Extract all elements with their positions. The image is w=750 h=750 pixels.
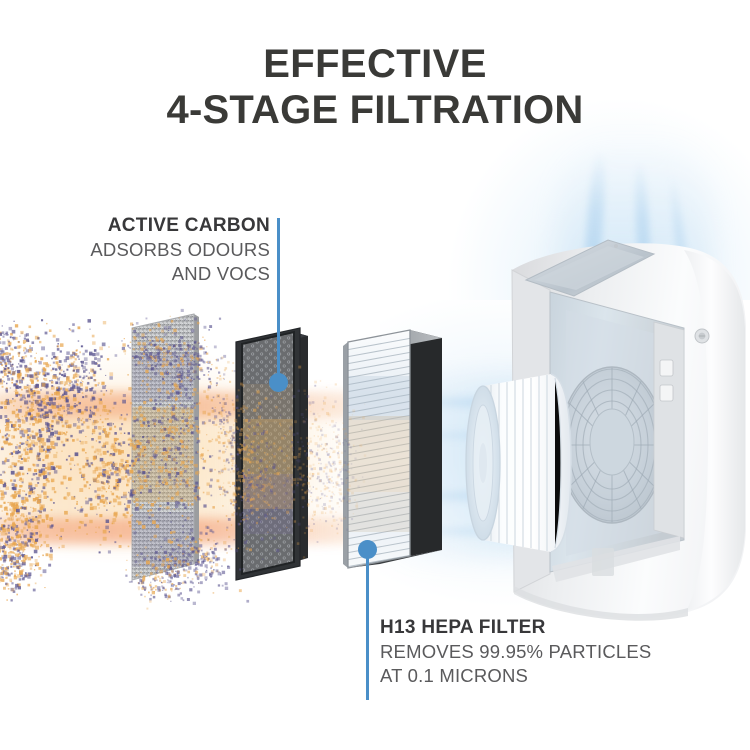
pointer-dot-active-carbon (269, 373, 288, 392)
turbine-fan (455, 368, 585, 558)
headline-line-2: 4-STAGE FILTRATION (0, 88, 750, 134)
active-carbon-filter (228, 324, 318, 592)
pointer-dot-h13-hepa (358, 540, 377, 559)
callout-active-carbon-title: ACTIVE CARBON (40, 214, 270, 238)
callout-h13-hepa-title: H13 HEPA FILTER (380, 616, 710, 640)
h13-hepa-filter (336, 316, 454, 586)
callout-active-carbon: ACTIVE CARBON ADSORBS ODOURS AND VOCS (40, 214, 270, 286)
callout-h13-hepa: H13 HEPA FILTER REMOVES 99.95% PARTICLES… (380, 616, 710, 688)
callout-h13-hepa-line-1: REMOVES 99.95% PARTICLES (380, 640, 710, 664)
page-title: EFFECTIVE 4-STAGE FILTRATION (0, 42, 750, 133)
callout-active-carbon-line-2: AND VOCS (40, 262, 270, 286)
callout-h13-hepa-line-2: AT 0.1 MICRONS (380, 664, 710, 688)
infographic-canvas: EFFECTIVE 4-STAGE FILTRATION ACTIVE CARB… (0, 0, 750, 750)
callout-active-carbon-line-1: ADSORBS ODOURS (40, 238, 270, 262)
headline-line-1: EFFECTIVE (263, 42, 487, 86)
pointer-line-h13-hepa (366, 545, 369, 700)
pointer-line-active-carbon (277, 218, 280, 378)
pre-filter (126, 312, 210, 588)
